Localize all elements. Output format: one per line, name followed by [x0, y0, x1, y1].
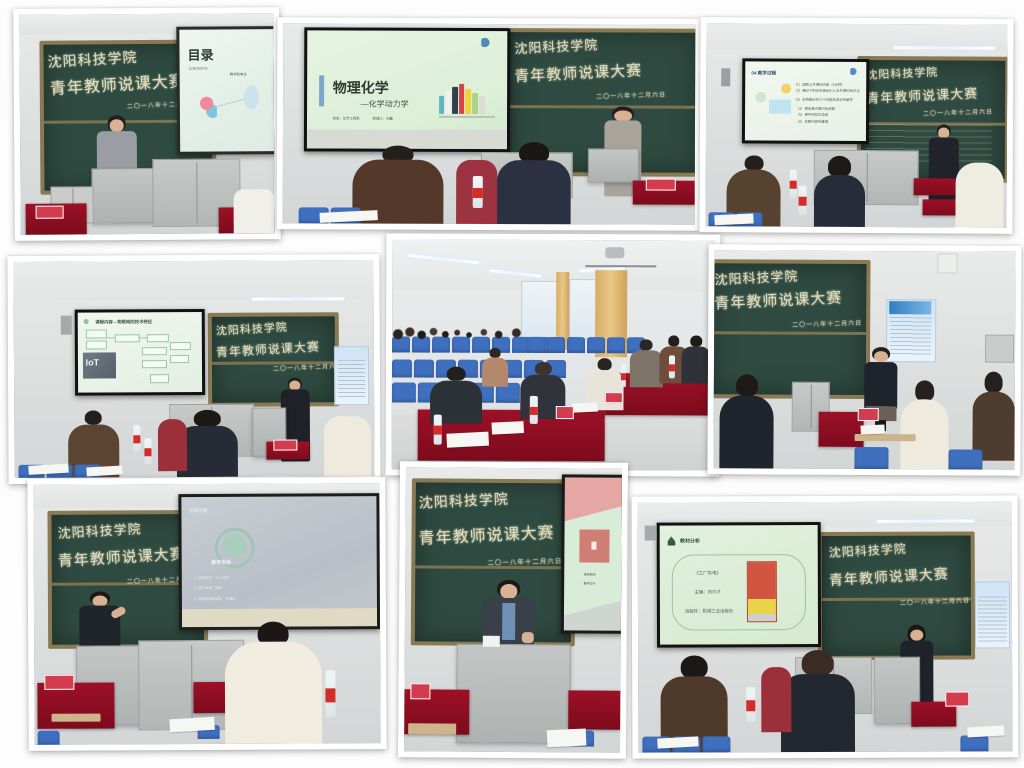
judge-figure: [630, 341, 662, 387]
judge-figure: [682, 337, 711, 383]
slide-bullet: ① 知识目标：三大法则: [194, 575, 229, 581]
photo-lecturer-at-podium-with-contents-slide[interactable]: 沈阳科技学院 青年教师说课大赛 二〇一八年十二月六日 目录 CONTENTS 教…: [13, 7, 281, 241]
attendee-figure: [482, 350, 508, 387]
photo-iot-course-presentation[interactable]: 沈阳科技学院 青年教师说课大赛 二〇一八年十二月六日 课程内容—物联网的技术特征…: [7, 254, 380, 484]
attendee-figure: [719, 377, 774, 469]
photo-lecture-hall-audience-and-judges[interactable]: [386, 233, 721, 476]
slide-keyword-iot: IoT: [86, 357, 100, 367]
slide-line: 主编：刘介才: [694, 590, 720, 596]
attendee-figure: [224, 624, 321, 744]
slide-title-physical-chemistry: 物理化学: [333, 78, 389, 98]
slide-line: 出版社：机械工业出版社: [685, 609, 733, 615]
slide-bullet: （2）通过个别古的提出引入本节课的知识点: [793, 87, 859, 92]
photo-objective-analysis-presentation[interactable]: 沈阳科技学院 青年教师说课大赛 二〇一八年十二月六日 目标分析 教学目标 ① 知…: [27, 477, 386, 751]
attendee-figure: [900, 382, 949, 469]
attendee-figure: [972, 374, 1015, 461]
attendee-figure: [158, 419, 187, 471]
slide-bullet: （3）举例展示的几个问题及其分析解答: [793, 97, 853, 102]
slide-title-iot: 课程内容—物联网的技术特征: [95, 319, 152, 325]
photo-physical-chemistry-presentation[interactable]: 沈阳科技学院 青年教师说课大赛 二〇一八年十二月六日 物理化学 —化学动力学 姓…: [277, 17, 702, 230]
slide-bullet: （4）课堂难点提问及讲解: [796, 106, 835, 111]
slide-heading-objective: 教学目标: [211, 559, 231, 566]
photo-teaching-process-presentation[interactable]: 沈阳科技学院 青年教师说课大赛 二〇一八年十二月六日 04 教学过程 （1）回顾…: [699, 17, 1013, 234]
slide-title-objective-analysis: 目标分析: [190, 508, 208, 514]
slide-subtitle-contents: CONTENTS: [189, 66, 208, 70]
attendee-figure: [814, 158, 866, 227]
photo-textbook-analysis-presentation[interactable]: 沈阳科技学院 青年教师说课大赛 二〇一八年十二月六日 教材分析 《工厂供电》 主…: [632, 495, 1019, 758]
home-icon: [667, 536, 675, 546]
photo-lecturer-at-podium-portrait[interactable]: 沈阳科技学院 青年教师说课大赛 二〇一八年十二月六日 课程概述 教学设计: [398, 461, 628, 759]
attendee-figure: [762, 667, 792, 732]
slide-bullet: （1）回顾上节课的内容（5分钟）: [793, 82, 844, 87]
textbook-cover-image: [747, 561, 778, 623]
attendee-figure: [497, 144, 571, 224]
slide-footer-left: 姓名：化学工程系: [333, 115, 360, 120]
slide-subtitle-physical-chemistry: —化学动力学: [361, 99, 409, 110]
slide-bullet: ③ 素质或过程目标：价值观: [194, 595, 236, 601]
slide-footer-right: 职通人：刘鑫: [373, 116, 393, 121]
slide-title-textbook-analysis: 教材分析: [680, 537, 700, 544]
photo-collage: 沈阳科技学院 青年教师说课大赛 二〇一八年十二月六日 目录 CONTENTS 教…: [0, 0, 1024, 768]
slide-title-teaching-process: 04 教学过程: [751, 70, 776, 76]
slide-title-contents: 目录: [188, 44, 214, 63]
attendee-figure: [324, 416, 371, 477]
slide-line: 《工厂供电》: [694, 571, 720, 577]
photo-lecturer-before-chalkboard-with-poster[interactable]: 沈阳科技学院 青年教师说课大赛 二〇一八年十二月六日: [707, 244, 1021, 476]
slide-bullet: （5）课中的知识总结: [796, 112, 828, 117]
attendee-figure: [955, 163, 1003, 228]
slide-bullet: （6）本章内容的整理: [796, 118, 828, 123]
slide-note-contents: 教材和电化: [230, 71, 247, 76]
slide-bullet: ② 能力目标：实践: [194, 585, 222, 591]
